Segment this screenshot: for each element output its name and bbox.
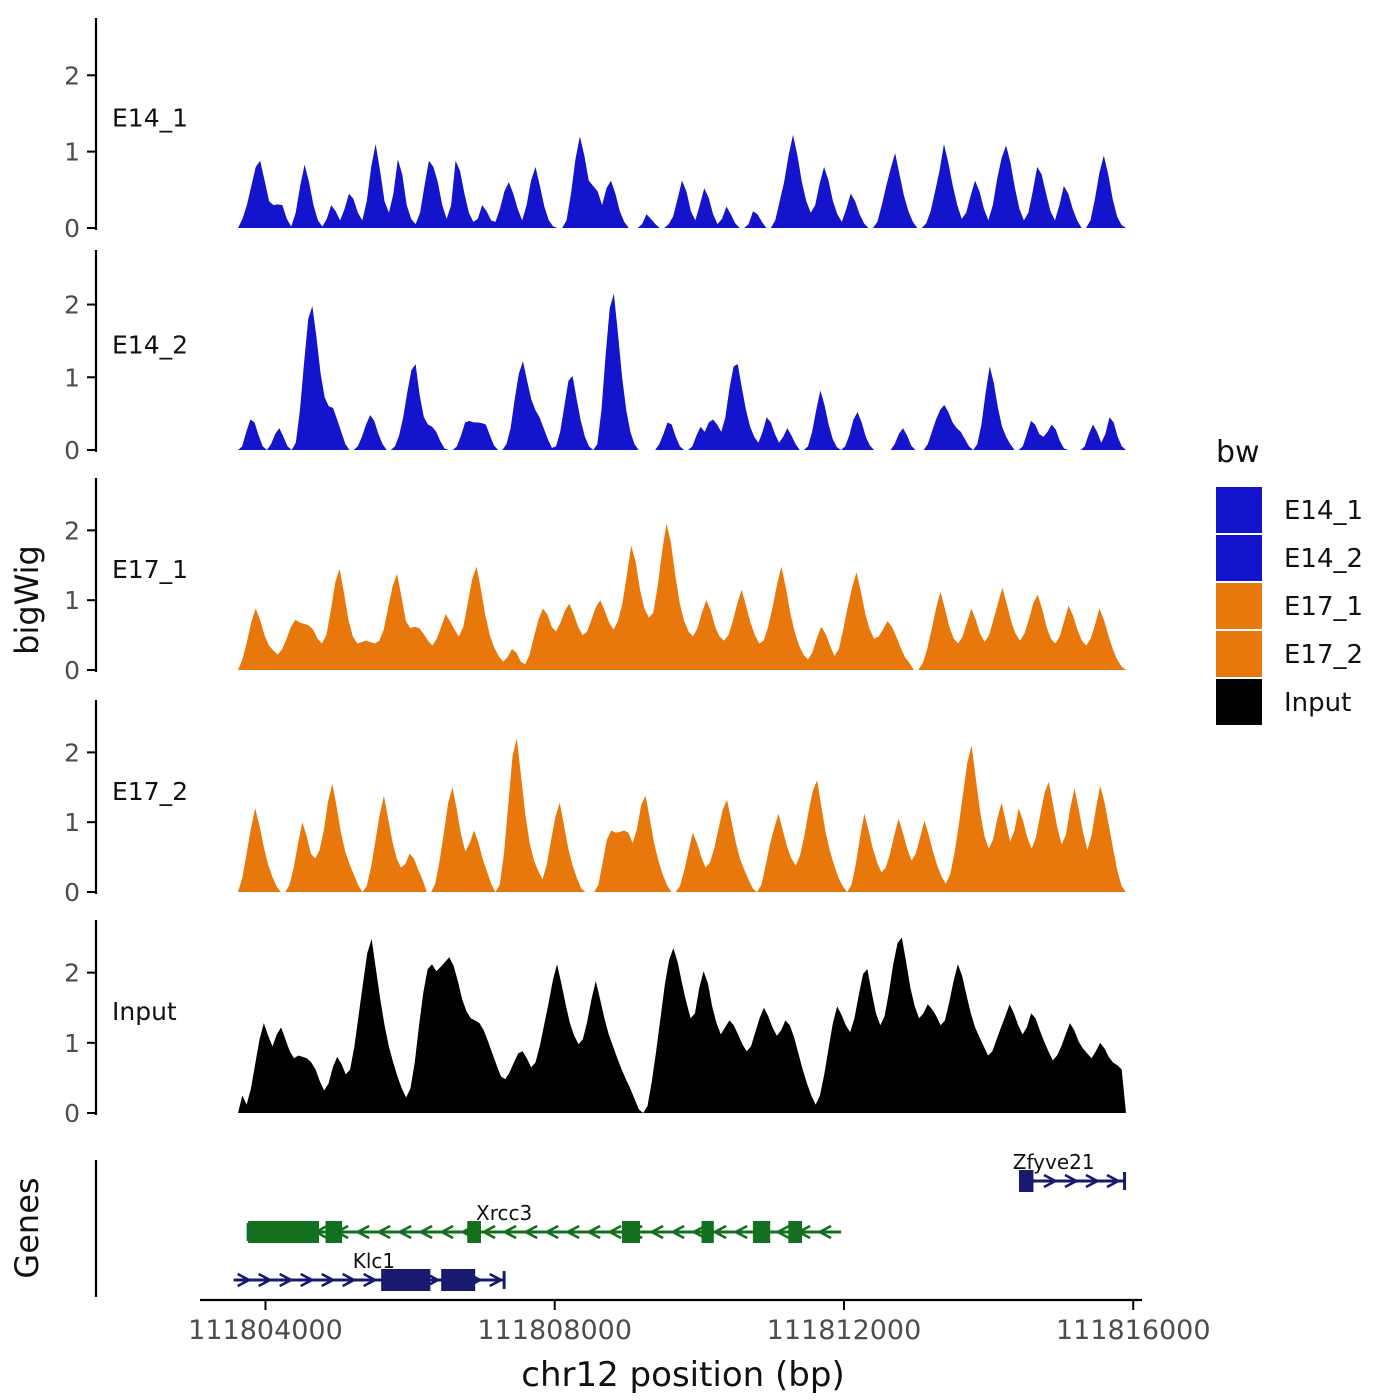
legend-label-E17_1: E17_1 <box>1284 592 1363 622</box>
legend-item-E17_1[interactable]: E17_1 <box>1216 583 1363 629</box>
legend-item-E17_2[interactable]: E17_2 <box>1216 631 1363 677</box>
y-tick-label-E17_2-0: 0 <box>64 878 80 907</box>
x-tick-label-1: 111808000 <box>477 1315 632 1346</box>
y-tick-label-Input-2: 2 <box>64 959 80 988</box>
y-tick-label-E14_1-2: 2 <box>64 61 80 90</box>
x-axis-title: chr12 position (bp) <box>521 1355 844 1395</box>
track-label-E17_1: E17_1 <box>112 555 188 584</box>
gene-exon-Xrcc3-5 <box>753 1221 770 1243</box>
legend-item-E14_2[interactable]: E14_2 <box>1216 535 1363 581</box>
figure-canvas: 012E14_1012E14_2012E17_1012E17_2012Input… <box>0 0 1400 1400</box>
y-tick-label-E17_2-1: 1 <box>64 808 80 837</box>
y-tick-label-E14_1-1: 1 <box>64 138 80 167</box>
wig-area-Input <box>238 938 1126 1113</box>
gene-label-Klc1: Klc1 <box>353 1249 395 1273</box>
track-E14_2: 012E14_2 <box>64 250 1126 465</box>
wig-area-E14_1 <box>238 135 1126 228</box>
gene-exon-Xrcc3-1 <box>325 1221 342 1243</box>
legend-item-E14_1[interactable]: E14_1 <box>1216 487 1363 533</box>
gene-Zfyve21[interactable]: Zfyve21 <box>1013 1150 1125 1192</box>
legend-swatch-E17_1 <box>1216 583 1262 629</box>
genes-axis-title: Genes <box>8 1177 46 1278</box>
y-tick-label-Input-0: 0 <box>64 1099 80 1128</box>
track-E17_1: 012E17_1 <box>64 478 1126 685</box>
track-label-E14_1: E14_1 <box>112 103 188 132</box>
track-E17_2: 012E17_2 <box>64 700 1126 907</box>
y-tick-label-E17_2-2: 2 <box>64 738 80 767</box>
wig-area-E17_1 <box>238 523 1126 670</box>
x-tick-label-2: 111812000 <box>767 1315 922 1346</box>
gene-label-Xrcc3: Xrcc3 <box>476 1201 532 1225</box>
track-label-Input: Input <box>112 997 177 1026</box>
legend-swatch-E14_1 <box>1216 487 1262 533</box>
wig-area-E17_2 <box>238 738 1126 892</box>
gene-exon-Xrcc3-3 <box>622 1221 640 1243</box>
legend-title: bw <box>1216 435 1260 470</box>
legend-label-Input: Input <box>1284 688 1351 718</box>
legend-label-E17_2: E17_2 <box>1284 640 1363 670</box>
gene-Klc1[interactable]: Klc1 <box>234 1249 504 1291</box>
track-label-E17_2: E17_2 <box>112 777 188 806</box>
y-tick-label-Input-1: 1 <box>64 1029 80 1058</box>
y-tick-label-E17_1-2: 2 <box>64 516 80 545</box>
wig-area-E14_2 <box>238 294 1126 450</box>
track-label-E14_2: E14_2 <box>112 331 188 360</box>
x-tick-label-3: 111816000 <box>1056 1315 1211 1346</box>
track-E14_1: 012E14_1 <box>64 18 1126 243</box>
genome-browser-figure: 012E14_1012E14_2012E17_1012E17_2012Input… <box>0 0 1400 1400</box>
gene-label-Zfyve21: Zfyve21 <box>1013 1150 1095 1174</box>
y-tick-label-E14_1-0: 0 <box>64 214 80 243</box>
legend-item-Input[interactable]: Input <box>1216 679 1351 725</box>
x-axis: 111804000111808000111812000111816000 <box>188 1300 1210 1346</box>
y-tick-label-E17_1-1: 1 <box>64 586 80 615</box>
legend-swatch-Input <box>1216 679 1262 725</box>
track-Input: 012Input <box>64 920 1126 1128</box>
gene-exon-Klc1-1 <box>441 1269 475 1291</box>
legend-swatch-E17_2 <box>1216 631 1262 677</box>
gene-Xrcc3[interactable]: Xrcc3 <box>248 1201 841 1243</box>
x-tick-label-0: 111804000 <box>188 1315 343 1346</box>
y-tick-label-E17_1-0: 0 <box>64 656 80 685</box>
legend-label-E14_2: E14_2 <box>1284 544 1363 574</box>
gene-exon-Xrcc3-6 <box>788 1221 802 1243</box>
y-tick-label-E14_2-1: 1 <box>64 363 80 392</box>
y-tick-label-E14_2-0: 0 <box>64 436 80 465</box>
y-tick-label-E14_2-2: 2 <box>64 291 80 320</box>
legend-swatch-E14_2 <box>1216 535 1262 581</box>
gene-exon-Xrcc3-0 <box>248 1221 319 1243</box>
legend-label-E14_1: E14_1 <box>1284 496 1363 526</box>
y-axis-title: bigWig <box>8 545 46 655</box>
gene-exon-Xrcc3-4 <box>702 1221 714 1243</box>
